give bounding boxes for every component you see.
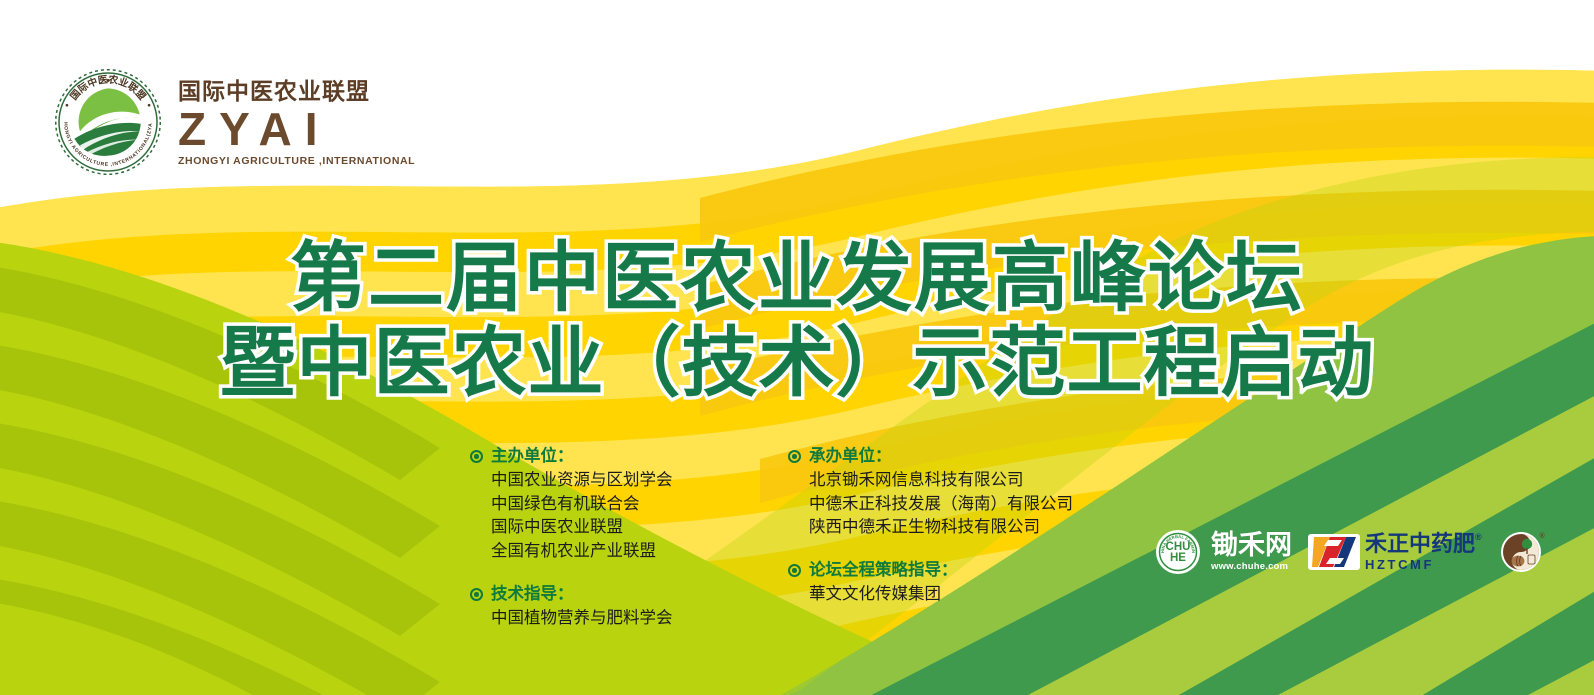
logo-acronym: ZYAI (178, 105, 331, 153)
credits-column-right: 承办单位： 北京锄禾网信息科技有限公司 中德禾正科技发展（海南）有限公司 陕西中… (788, 446, 1088, 631)
credit-group-technical-guidance: 技术指导： 中国植物营养与肥料学会 (470, 584, 748, 631)
credit-item: 中国农业资源与区划学会 (470, 469, 748, 493)
zyai-emblem-icon: 国际中医农业联盟 ZHONGYI AGRICULTURE ,INTERNATIO… (52, 66, 164, 178)
bullet-icon (788, 564, 801, 577)
credit-heading-label: 主办单位： (491, 446, 574, 467)
bullet-icon (788, 450, 801, 463)
credit-heading: 技术指导： (470, 584, 748, 605)
credit-item: 華文文化传媒集团 (788, 583, 1088, 607)
chuhe-circle-logo-icon: CHU HE CHINA HERBAL FARMING (1155, 529, 1201, 575)
credit-item: 国际中医农业联盟 (470, 516, 748, 540)
logo-name-en: ZHONGYI AGRICULTURE ,INTERNATIONAL (178, 156, 415, 168)
credit-item: 北京锄禾网信息科技有限公司 (788, 469, 1088, 493)
credit-heading: 主办单位： (470, 446, 748, 467)
credits-column-left: 主办单位： 中国农业资源与区划学会 中国绿色有机联合会 国际中医农业联盟 全国有… (470, 446, 748, 631)
trademark-icon: ® (1539, 532, 1545, 540)
sponsor-logo-row: CHU HE CHINA HERBAL FARMING 锄禾网 www.chuh… (1155, 528, 1546, 576)
sponsor-hztcmf-name-en: HZTCMF (1365, 558, 1434, 571)
credit-heading-label: 论坛全程策略指导： (809, 560, 958, 581)
logo-wordmark: 国际中医农业联盟 ZYAI ZHONGYI AGRICULTURE ,INTER… (178, 77, 415, 167)
credit-item: 全国有机农业产业联盟 (470, 540, 748, 564)
svg-text:HE: HE (1170, 552, 1186, 564)
credit-group-organizers: 主办单位： 中国农业资源与区划学会 中国绿色有机联合会 国际中医农业联盟 全国有… (470, 446, 748, 564)
sponsor-chuhe-url: www.chuhe.com (1211, 562, 1288, 572)
hztcmf-stripe-logo-icon (1308, 532, 1360, 572)
bullet-icon (470, 450, 483, 463)
credit-item: 陕西中德禾正生物科技有限公司 (788, 516, 1088, 540)
logo-name-cn: 国际中医农业联盟 (178, 79, 370, 104)
seed-tree-circle-logo-icon: ® (1498, 528, 1546, 576)
sponsor-seed-tree: ® (1498, 528, 1546, 576)
sponsor-chuhe-name: 锄禾网 (1211, 532, 1292, 559)
credit-group-hosts: 承办单位： 北京锄禾网信息科技有限公司 中德禾正科技发展（海南）有限公司 陕西中… (788, 446, 1088, 540)
trademark-icon: ® (1475, 533, 1482, 542)
credit-heading-label: 承办单位： (809, 446, 892, 467)
credit-item: 中德禾正科技发展（海南）有限公司 (788, 493, 1088, 517)
credit-group-strategic-guidance: 论坛全程策略指导： 華文文化传媒集团 (788, 560, 1088, 607)
organization-logo: 国际中医农业联盟 ZHONGYI AGRICULTURE ,INTERNATIO… (52, 66, 415, 178)
sponsor-hztcmf: 禾正中药肥 ® HZTCMF (1308, 532, 1482, 572)
sponsor-chuhe: CHU HE CHINA HERBAL FARMING 锄禾网 www.chuh… (1155, 529, 1292, 575)
credit-item: 中国植物营养与肥料学会 (470, 607, 748, 631)
credit-heading: 承办单位： (788, 446, 1088, 467)
bullet-icon (470, 588, 483, 601)
sponsor-hztcmf-name-cn: 禾正中药肥 (1365, 533, 1475, 555)
credits-section: 主办单位： 中国农业资源与区划学会 中国绿色有机联合会 国际中医农业联盟 全国有… (470, 446, 1090, 631)
event-banner: 国际中医农业联盟 ZHONGYI AGRICULTURE ,INTERNATIO… (0, 0, 1594, 695)
credit-item: 中国绿色有机联合会 (470, 493, 748, 517)
credit-heading-label: 技术指导： (491, 584, 574, 605)
credit-heading: 论坛全程策略指导： (788, 560, 1088, 581)
